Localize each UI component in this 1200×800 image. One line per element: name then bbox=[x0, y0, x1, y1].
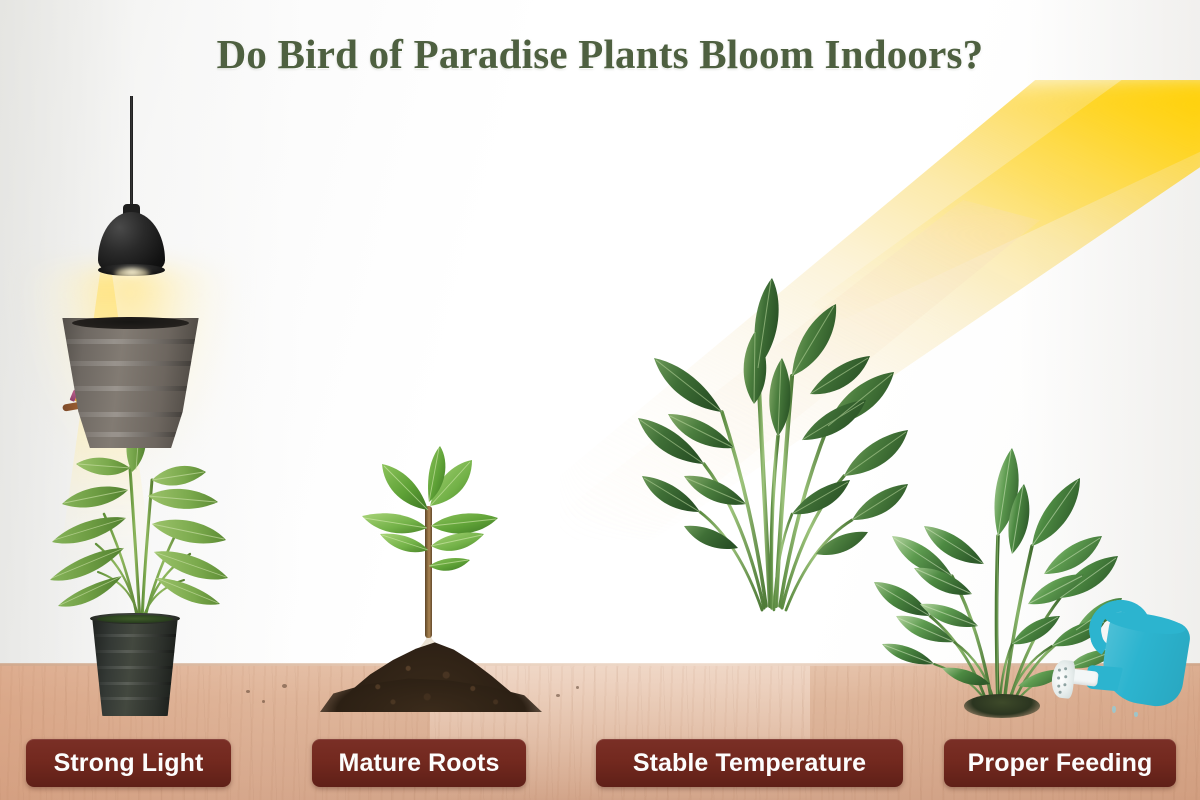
pot-rib bbox=[94, 697, 177, 700]
page-title: Do Bird of Paradise Plants Bloom Indoors… bbox=[0, 30, 1200, 78]
badge-stable-temperature[interactable]: Stable Temperature bbox=[596, 739, 903, 787]
badge-label: Strong Light bbox=[54, 749, 204, 778]
pot-rib bbox=[64, 361, 197, 366]
water-drip bbox=[1134, 712, 1138, 717]
dark-ribbed-pot-icon bbox=[92, 616, 178, 716]
badge-row: Strong Light Mature Roots Stable Tempera… bbox=[0, 739, 1200, 789]
badge-label: Mature Roots bbox=[339, 749, 500, 778]
rose-hole bbox=[1064, 675, 1067, 678]
lamp-bulb-glow bbox=[114, 268, 150, 280]
badge-label: Stable Temperature bbox=[633, 749, 866, 778]
badge-mature-roots[interactable]: Mature Roots bbox=[312, 739, 526, 787]
watering-can-icon bbox=[1062, 596, 1200, 722]
pot-soil-surface bbox=[97, 615, 173, 623]
pot-rib bbox=[68, 386, 193, 391]
rose-hole bbox=[1063, 683, 1066, 686]
pot-body bbox=[58, 318, 203, 448]
pot-rib bbox=[94, 682, 177, 685]
plant-base-shadow bbox=[964, 694, 1040, 718]
pendant-lamp-icon bbox=[76, 96, 186, 276]
badge-label: Proper Feeding bbox=[968, 749, 1153, 778]
infographic-canvas: Do Bird of Paradise Plants Bloom Indoors… bbox=[0, 0, 1200, 800]
soil-speck bbox=[576, 686, 579, 689]
pot-interior-shadow bbox=[72, 317, 189, 329]
soil-speck bbox=[282, 684, 287, 688]
pot-rib bbox=[94, 666, 177, 669]
pot-rib bbox=[94, 650, 177, 653]
rose-hole bbox=[1057, 676, 1060, 679]
water-drip bbox=[1112, 706, 1116, 713]
pot-rib bbox=[74, 412, 187, 417]
rose-hole bbox=[1057, 684, 1060, 687]
pot-body bbox=[92, 616, 178, 716]
seedling-icon bbox=[300, 440, 560, 732]
pot-rib bbox=[80, 432, 182, 437]
badge-proper-feeding[interactable]: Proper Feeding bbox=[944, 739, 1176, 787]
pot-rib bbox=[61, 339, 200, 344]
lamp-cord bbox=[130, 96, 133, 208]
soil-speck bbox=[262, 700, 265, 703]
rose-hole bbox=[1058, 691, 1061, 694]
rose-hole bbox=[1064, 667, 1067, 670]
pot-rib bbox=[94, 634, 177, 637]
grey-ceramic-pot-icon bbox=[58, 318, 203, 448]
seedling-leaves bbox=[300, 440, 560, 732]
rose-hole bbox=[1058, 668, 1061, 671]
badge-strong-light[interactable]: Strong Light bbox=[26, 739, 231, 787]
